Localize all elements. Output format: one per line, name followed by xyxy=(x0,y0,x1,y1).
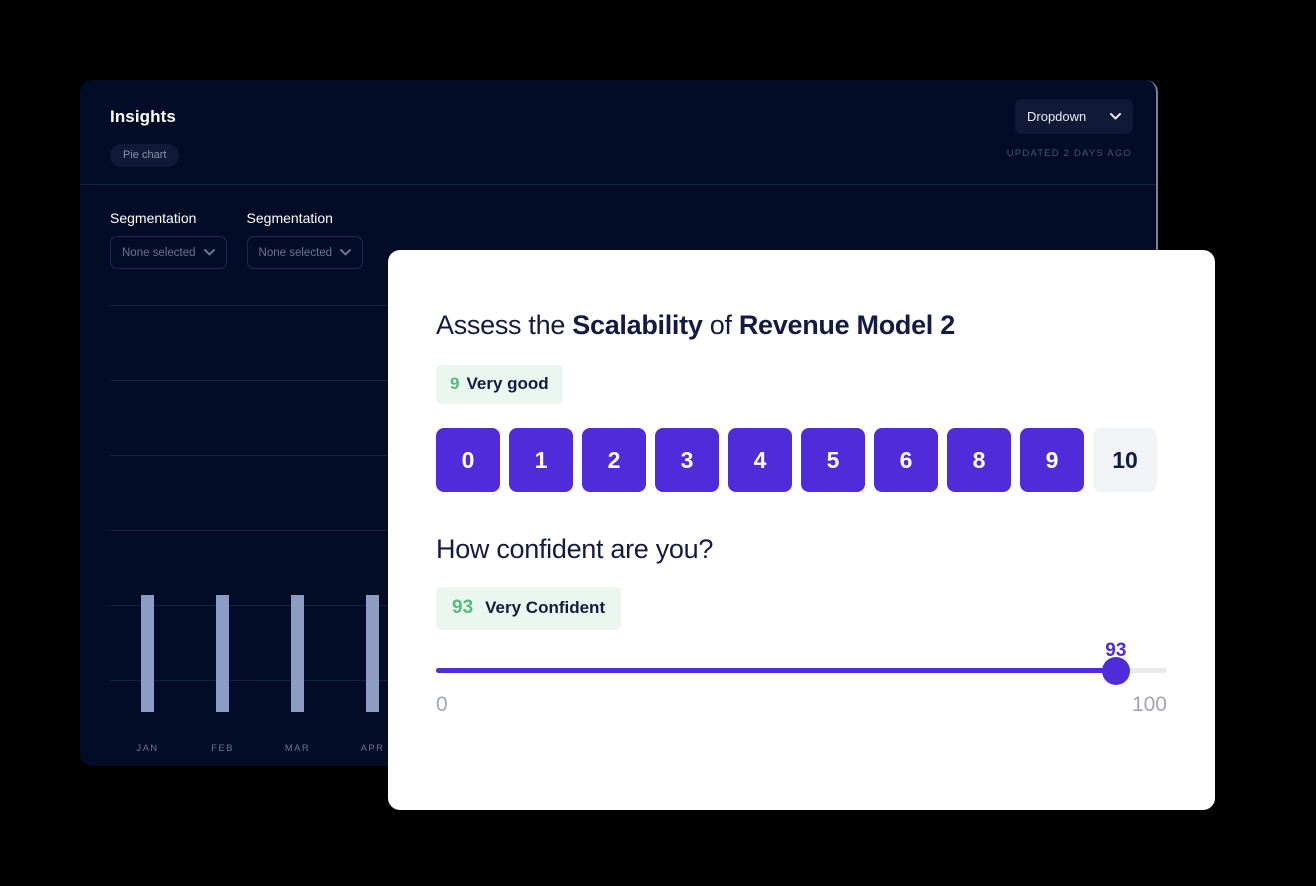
chart-bar xyxy=(141,595,154,712)
segmentation-controls: Segmentation None selected Segmentation … xyxy=(110,210,363,269)
segmentation-select-2[interactable]: None selected xyxy=(247,236,364,269)
segmentation-label-2: Segmentation xyxy=(247,210,364,226)
segmentation-value-1: None selected xyxy=(122,247,196,259)
chart-bar-group: JAN xyxy=(110,595,185,712)
panel-header: Insights Pie chart Dropdown UPDATED 2 DA… xyxy=(80,80,1156,185)
chart-bar-group: MAR xyxy=(260,595,335,712)
rating-option-8[interactable]: 8 xyxy=(947,428,1011,492)
confidence-badge: 93 Very Confident xyxy=(436,587,621,630)
title-object: Revenue Model 2 xyxy=(739,310,955,340)
rating-badge: 9 Very good xyxy=(436,365,563,404)
confidence-slider[interactable]: 93 0 100 xyxy=(436,668,1167,717)
chart-bar-label: MAR xyxy=(260,743,335,754)
confidence-badge-label: Very Confident xyxy=(485,598,605,618)
rating-option-0[interactable]: 0 xyxy=(436,428,500,492)
slider-endpoints: 0 100 xyxy=(436,693,1167,717)
chart-bar-label: FEB xyxy=(185,743,260,754)
slider-track[interactable] xyxy=(436,668,1167,673)
chart-bar xyxy=(216,595,229,712)
chevron-down-icon xyxy=(204,249,215,256)
confidence-badge-score: 93 xyxy=(452,597,473,619)
rating-option-4[interactable]: 4 xyxy=(728,428,792,492)
chevron-down-icon xyxy=(340,249,351,256)
title-subject: Scalability xyxy=(572,310,702,340)
modal-title: Assess the Scalability of Revenue Model … xyxy=(436,310,1167,341)
slider-max-label: 100 xyxy=(1132,693,1167,717)
rating-option-6[interactable]: 6 xyxy=(874,428,938,492)
slider-track-fill xyxy=(436,668,1116,673)
chevron-down-icon xyxy=(1110,113,1121,120)
chart-bar-label: JAN xyxy=(110,743,185,754)
rating-option-3[interactable]: 3 xyxy=(655,428,719,492)
updated-timestamp: UPDATED 2 DAYS AGO xyxy=(1007,148,1132,159)
segmentation-select-1[interactable]: None selected xyxy=(110,236,227,269)
segmentation-label-1: Segmentation xyxy=(110,210,227,226)
rating-option-1[interactable]: 1 xyxy=(509,428,573,492)
chart-bar xyxy=(291,595,304,712)
segmentation-group-2: Segmentation None selected xyxy=(247,210,364,269)
chart-bar-group: FEB xyxy=(185,595,260,712)
segmentation-value-2: None selected xyxy=(259,247,333,259)
chart-bar xyxy=(366,595,379,712)
chart-type-tag[interactable]: Pie chart xyxy=(110,144,179,167)
title-prefix: Assess the xyxy=(436,310,572,340)
rating-option-5[interactable]: 5 xyxy=(801,428,865,492)
rating-option-2[interactable]: 2 xyxy=(582,428,646,492)
rating-scale: 01234568910 xyxy=(436,428,1167,492)
dropdown-label: Dropdown xyxy=(1027,109,1086,124)
rating-option-9[interactable]: 9 xyxy=(1020,428,1084,492)
screen: Insights Pie chart Dropdown UPDATED 2 DA… xyxy=(0,0,1316,886)
rating-badge-score: 9 xyxy=(450,374,459,394)
assessment-modal: Assess the Scalability of Revenue Model … xyxy=(388,250,1215,810)
slider-thumb[interactable] xyxy=(1102,657,1130,685)
rating-option-10[interactable]: 10 xyxy=(1093,428,1157,492)
rating-badge-label: Very good xyxy=(466,374,548,394)
title-middle: of xyxy=(703,310,739,340)
slider-min-label: 0 xyxy=(436,693,448,717)
confidence-question: How confident are you? xyxy=(436,534,1167,565)
segmentation-group-1: Segmentation None selected xyxy=(110,210,227,269)
page-title: Insights xyxy=(110,107,176,127)
dropdown-button[interactable]: Dropdown xyxy=(1015,99,1133,134)
